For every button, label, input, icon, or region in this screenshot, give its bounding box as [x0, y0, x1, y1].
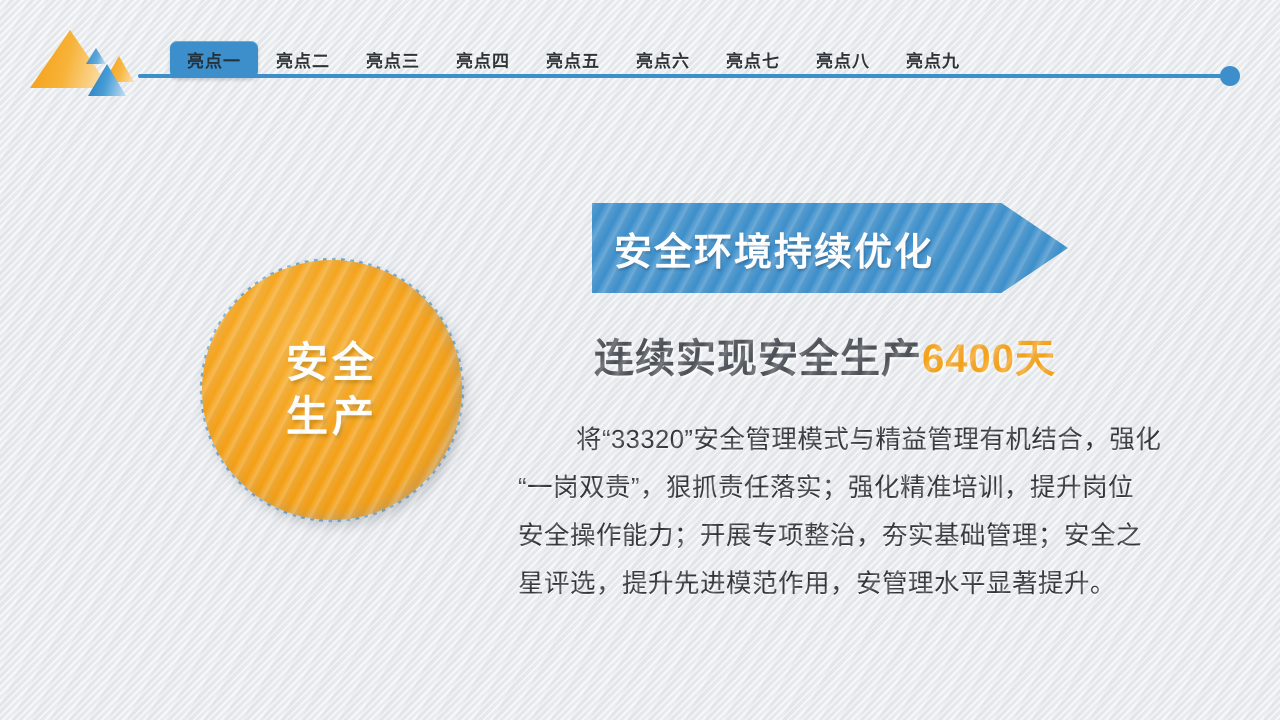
body-line-1: 将“33320”安全管理模式与精益管理有机结合，强化	[518, 416, 1202, 464]
small-blue-triangle-icon	[86, 48, 106, 64]
body-line-4: 星评选，提升先进模范作用，安管理水平显著提升。	[518, 560, 1202, 608]
nav-item-liangdian-7[interactable]: 亮点七	[708, 41, 798, 78]
body-paragraph: 将“33320”安全管理模式与精益管理有机结合，强化 “一岗双责”，狠抓责任落实…	[518, 416, 1202, 608]
top-navigation-bar: 亮点一 亮点二 亮点三 亮点四 亮点五 亮点六 亮点七 亮点八 亮点九	[0, 0, 1280, 105]
headline-dark-text: 连续实现安全生产	[594, 337, 922, 381]
banner-title-text: 安全环境持续优化	[614, 203, 934, 293]
body-line-2: “一岗双责”，狠抓责任落实；强化精准培训，提升岗位	[518, 464, 1202, 512]
mountain-triangles-logo	[24, 26, 140, 92]
badge-inner-disc: 安全 生产	[202, 260, 462, 520]
nav-item-liangdian-4[interactable]: 亮点四	[438, 41, 528, 78]
nav-item-liangdian-2[interactable]: 亮点二	[258, 41, 348, 78]
nav-underline-rule	[138, 74, 1230, 78]
nav-item-liangdian-9[interactable]: 亮点九	[888, 41, 978, 78]
nav-item-liangdian-6[interactable]: 亮点六	[618, 41, 708, 78]
nav-item-liangdian-5[interactable]: 亮点五	[528, 41, 618, 78]
nav-item-list: 亮点一 亮点二 亮点三 亮点四 亮点五 亮点六 亮点七 亮点八 亮点九	[170, 41, 978, 78]
presentation-slide: 亮点一 亮点二 亮点三 亮点四 亮点五 亮点六 亮点七 亮点八 亮点九 安全 生…	[0, 0, 1280, 720]
section-title-banner: 安全环境持续优化	[592, 203, 1068, 293]
nav-item-liangdian-1[interactable]: 亮点一	[170, 41, 258, 78]
nav-item-liangdian-8[interactable]: 亮点八	[798, 41, 888, 78]
headline-orange-number: 6400天	[922, 337, 1056, 381]
body-line-3: 安全操作能力；开展专项整治，夯实基础管理；安全之	[518, 512, 1202, 560]
badge-label-line-2: 生产	[286, 390, 378, 444]
nav-rule-end-dot-icon	[1220, 66, 1240, 86]
headline: 连续实现安全生产6400天	[594, 326, 1056, 384]
badge-label-line-1: 安全	[286, 336, 378, 390]
nav-item-liangdian-3[interactable]: 亮点三	[348, 41, 438, 78]
safety-production-badge: 安全 生产	[146, 204, 518, 576]
